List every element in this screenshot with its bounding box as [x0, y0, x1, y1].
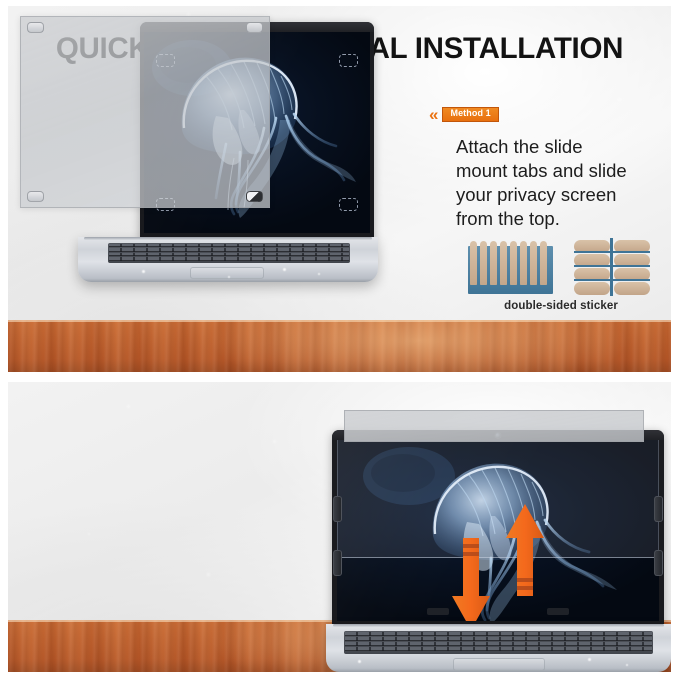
step-1-instructions: « Method 1 Attach the slide mount tabs a… — [429, 106, 671, 231]
slide-mount-tab-top-left[interactable] — [27, 22, 44, 33]
slide-mount-tab-top-right[interactable] — [246, 22, 263, 33]
side-tab-right-lower[interactable] — [654, 550, 663, 576]
side-tab-left-upper[interactable] — [333, 496, 342, 522]
sticker-graphic — [456, 236, 666, 296]
desk-highlight-1 — [8, 320, 671, 372]
privacy-screen-film-1[interactable] — [20, 16, 270, 208]
panel-method-2: Method 2 » Attach the adhesive strips to… — [8, 382, 671, 672]
sticker-sheet-top-view — [574, 238, 652, 296]
method-1-badge: Method 1 — [442, 107, 498, 122]
double-sided-sticker-caption: double-sided sticker — [456, 300, 666, 312]
laptop-1-keyboard — [108, 243, 350, 263]
arrow-up — [505, 502, 545, 596]
privacy-screen-film-2[interactable] — [344, 410, 644, 442]
sticker-strips-side-view — [468, 246, 553, 294]
screenshot-root: QUICK AND EASYINITIAL INSTALLATION — [0, 0, 679, 679]
screen-foot-left — [427, 608, 449, 615]
step-1-badge-row: « Method 1 — [429, 106, 671, 123]
laptop-2 — [326, 410, 671, 672]
screen-foot-right — [547, 608, 569, 615]
placement-marker-bottom-right — [339, 198, 358, 211]
arrow-down — [451, 538, 491, 621]
step-1-text: Attach the slide mount tabs and slide yo… — [456, 135, 671, 231]
laptop-2-lid — [332, 430, 664, 628]
side-tab-right-upper[interactable] — [654, 496, 663, 522]
laptop-2-trackpad — [453, 658, 545, 671]
panel-method-1: QUICK AND EASYINITIAL INSTALLATION — [8, 6, 671, 372]
placement-marker-top-right — [339, 54, 358, 67]
chevron-left-icon: « — [429, 106, 435, 123]
side-tab-left-lower[interactable] — [333, 550, 342, 576]
double-sided-sticker-figure: double-sided sticker — [456, 236, 666, 312]
laptop-1-trackpad — [190, 267, 264, 279]
slide-mount-tab-bottom-left[interactable] — [27, 191, 44, 202]
laptop-1-hinge — [84, 237, 372, 240]
laptop-2-screen — [337, 440, 659, 621]
laptop-2-keyboard — [344, 631, 653, 654]
desk-surface-1 — [8, 320, 671, 372]
privacy-film-2-overlay-area — [337, 440, 659, 558]
laptop-1-base — [78, 237, 378, 282]
laptop-2-base — [326, 624, 671, 672]
slide-mount-tab-bottom-right[interactable] — [246, 191, 263, 202]
laptop-2-hinge — [333, 624, 664, 627]
